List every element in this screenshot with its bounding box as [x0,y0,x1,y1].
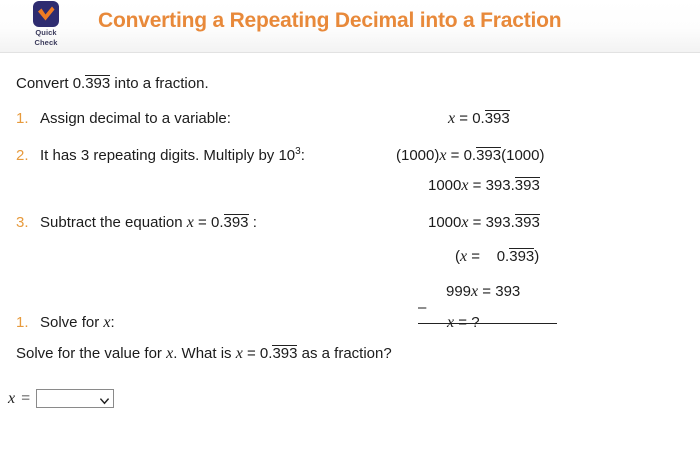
equation-step-2-line-2: 1000x = 393.393 [428,177,540,195]
eq2l2-lead: 1000 [428,177,461,194]
prompt-repeat-digits: 393 [85,75,110,92]
lesson-content: Convert 0.393 into a fraction. 1.Assign … [0,53,700,462]
eq3l2-tail: ) [534,248,539,265]
step-2-number: 2. [16,147,40,164]
step-4-text: Solve for [40,314,103,331]
check-mark-icon [33,1,59,27]
eq2l2-mid: = 393. [468,177,514,194]
equation-step-1-repeat: 393 [485,110,510,127]
prompt-text-before: Convert 0. [16,75,85,92]
fq-part-1: Solve for the value for [16,345,166,362]
answer-row: x = [8,389,114,408]
answer-dropdown[interactable] [36,389,114,408]
eq2l1-mid: = 0. [446,147,476,164]
step-3-number: 3. [16,214,40,231]
equation-step-3-result: 999x = 393 [446,283,520,301]
step-2-text-after: : [301,147,305,164]
eq3l2-spacer: 0. [480,248,509,265]
step-2-text: It has 3 repeating digits. Multiply by 1… [40,147,295,164]
step-3: 3.Subtract the equation x = 0.393 : [16,214,257,232]
step-3-eq: = 0. [194,214,224,231]
step-2: 2.It has 3 repeating digits. Multiply by… [16,147,305,164]
eq3l1-repeat: 393 [515,214,540,231]
subtraction-minus-sign: – [418,299,426,316]
problem-prompt: Convert 0.393 into a fraction. [16,75,209,92]
eq3l2-mid: = [467,248,480,265]
eq2l1-lead: (1000) [396,147,439,164]
fq-part-3: = 0. [243,345,273,362]
step-4-number: 1. [16,314,40,331]
answer-variable-label: x [8,390,15,408]
equation-step-4: x = ? [447,314,480,332]
step-3-repeat: 393 [224,214,249,231]
quick-check-label-line2: Check [20,38,72,47]
equation-step-3-line-1: 1000x = 393.393 [428,214,540,232]
fq-repeat: 393 [272,345,297,362]
eq2l1-tail: (1000) [501,147,544,164]
subtraction-rule-line [418,323,557,324]
eq3l2-repeat: 393 [509,248,534,265]
step-4-text-after: : [110,314,114,331]
step-3-text: Subtract the equation [40,214,187,231]
fq-part-2: . What is [173,345,236,362]
eq3r-lead: 999 [446,283,471,300]
page-title: Converting a Repeating Decimal into a Fr… [98,9,561,33]
quick-check-badge: Quick Check [20,1,72,47]
eq2l1-repeat: 393 [476,147,501,164]
step-3-text-after: : [249,214,257,231]
answer-equals-sign: = [20,390,31,408]
equation-step-1: x = 0.393 [448,110,510,128]
equation-step-3-line-2: (x = 0.393) [455,248,539,266]
fq-part-4: as a fraction? [297,345,391,362]
chevron-down-icon [100,394,109,403]
final-question: Solve for the value for x. What is x = 0… [16,345,392,363]
prompt-text-after: into a fraction. [110,75,208,92]
step-1-text: Assign decimal to a variable: [40,110,231,127]
fq-var-2: x [236,345,243,362]
quick-check-label-line1: Quick [20,28,72,37]
step-4: 1.Solve for x: [16,314,115,332]
eq2l2-repeat: 393 [515,177,540,194]
step-3-var: x [187,214,194,231]
eq4-mid: = ? [454,314,479,331]
step-1-number: 1. [16,110,40,127]
eq3l1-lead: 1000 [428,214,461,231]
page-header: Quick Check Converting a Repeating Decim… [0,0,700,53]
equation-step-2-line-1: (1000)x = 0.393(1000) [396,147,544,165]
eq3l1-mid: = 393. [468,214,514,231]
equation-step-1-mid: = 0. [455,110,485,127]
eq3r-mid: = 393 [478,283,520,300]
step-1: 1.Assign decimal to a variable: [16,110,231,127]
